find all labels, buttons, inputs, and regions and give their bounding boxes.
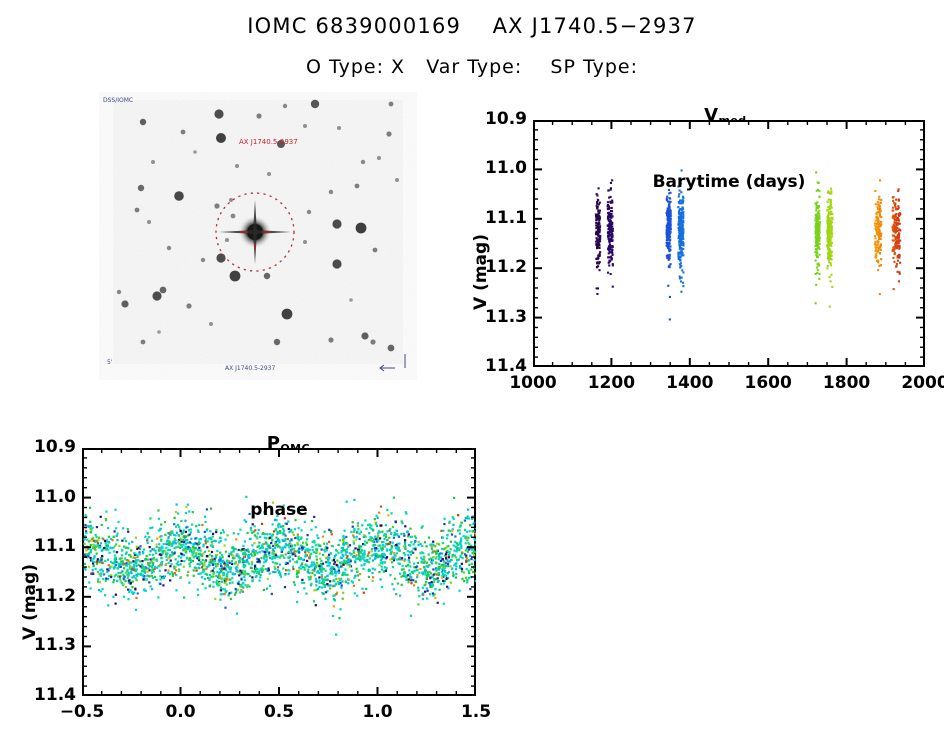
x-tick-label: 1400 — [650, 373, 730, 393]
y-tick-label: 11.2 — [16, 586, 76, 606]
x-tick-label: −0.5 — [42, 702, 122, 722]
x-tick-label: 1800 — [807, 373, 887, 393]
lightcurve-x-axis-label: Barytime (days) — [609, 172, 849, 192]
finder-bottom-label: AX J1740.5-2937 — [225, 365, 276, 372]
lightcurve-ticks — [533, 120, 925, 367]
y-tick-label: 11.0 — [467, 158, 527, 178]
x-tick-label: 1600 — [728, 373, 808, 393]
y-tick-label: 11.4 — [16, 685, 76, 705]
x-tick-label: 1000 — [493, 373, 573, 393]
x-tick-label: 2000 — [885, 373, 944, 393]
y-tick-label: 11.2 — [467, 257, 527, 277]
x-tick-label: 0.5 — [239, 702, 319, 722]
finder-chart-image: AX J1740.5-2937 DSS/IOMC AX J1740.5-2937… — [99, 92, 417, 380]
phase-ticks — [82, 448, 476, 696]
finder-scale-label: 5' — [107, 359, 113, 366]
survey-corner-label: DSS/IOMC — [103, 97, 133, 104]
y-tick-label: 10.9 — [467, 109, 527, 129]
iomc-source-sheet: IOMC 6839000169 AX J1740.5−2937 O Type: … — [0, 0, 944, 747]
y-tick-label: 11.0 — [16, 487, 76, 507]
x-tick-label: 1.0 — [338, 702, 418, 722]
source-label: AX J1740.5-2937 — [239, 138, 298, 146]
y-tick-label: 11.3 — [16, 635, 76, 655]
type-subtitle: O Type: X Var Type: SP Type: — [0, 56, 944, 78]
x-tick-label: 1200 — [571, 373, 651, 393]
page-title: IOMC 6839000169 AX J1740.5−2937 — [0, 14, 944, 38]
y-tick-label: 11.1 — [16, 536, 76, 556]
y-tick-label: 11.1 — [467, 208, 527, 228]
x-tick-label: 0.0 — [141, 702, 221, 722]
barytime-lightcurve-plot: V (mag) Barytime (days) 1000120014001600… — [533, 120, 925, 367]
phase-x-axis-label: phase — [209, 500, 349, 520]
y-tick-label: 10.9 — [16, 437, 76, 457]
dss-finder-chart: AX J1740.5-2937 DSS/IOMC AX J1740.5-2937… — [99, 92, 417, 380]
x-tick-label: 1.5 — [436, 702, 516, 722]
y-tick-label: 11.4 — [467, 356, 527, 376]
y-tick-label: 11.3 — [467, 307, 527, 327]
phase-folded-plot: V (mag) phase −0.50.00.51.01.510.911.011… — [82, 448, 476, 696]
